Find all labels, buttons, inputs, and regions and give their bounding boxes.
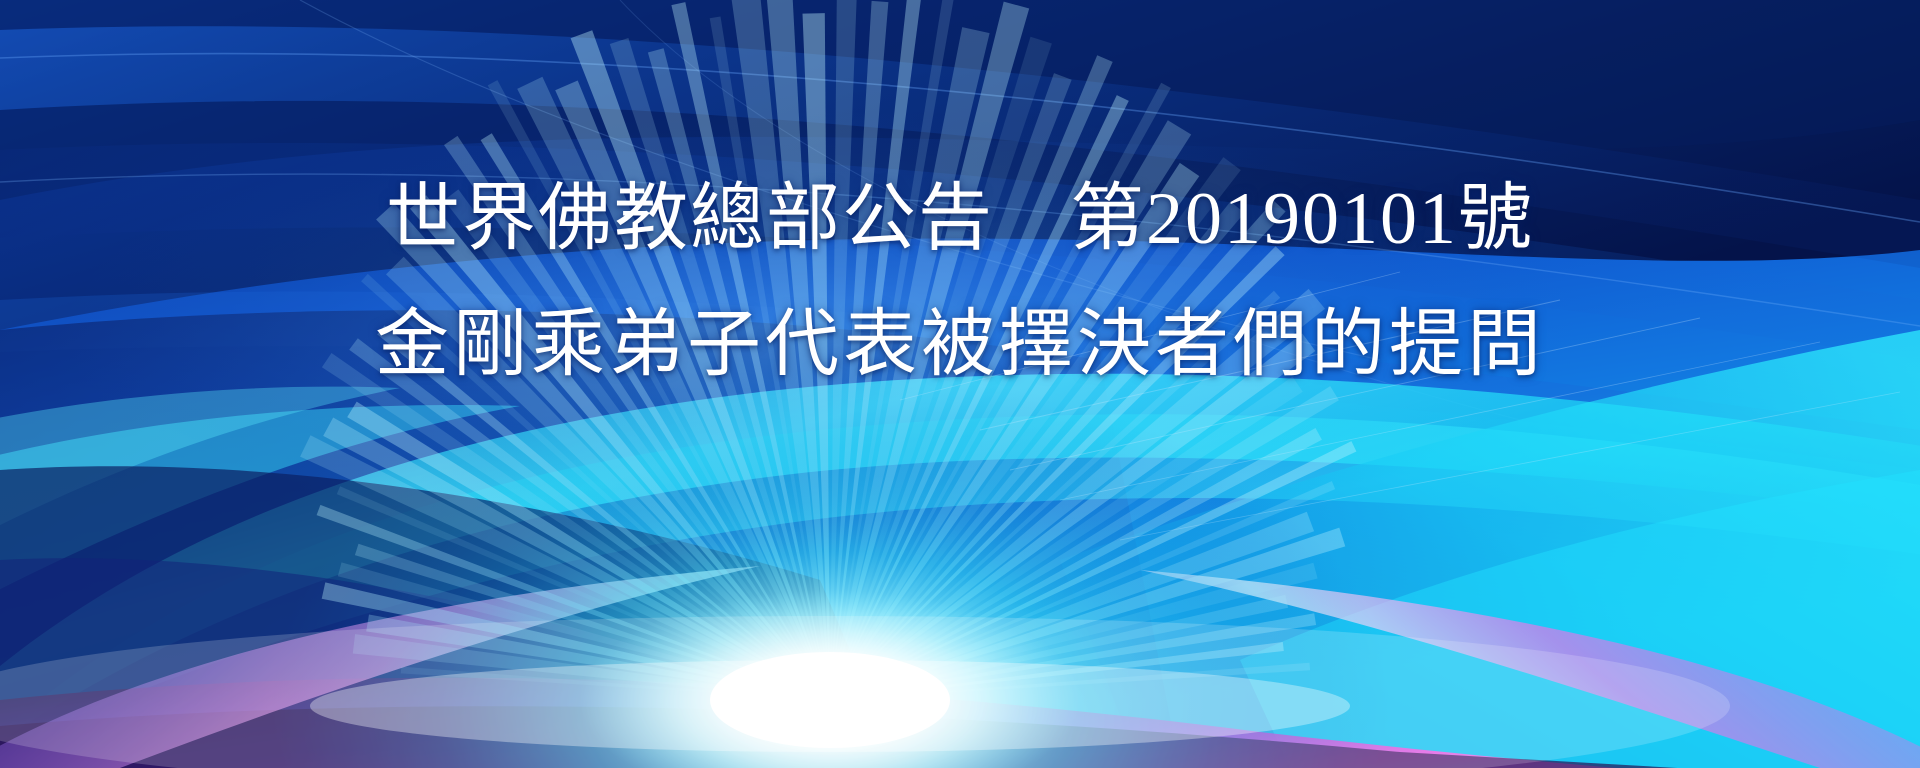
announcement-banner: 世界佛教總部公告 第20190101號 金剛乘弟子代表被擇決者們的提問	[0, 0, 1920, 768]
background-artwork	[0, 0, 1920, 768]
